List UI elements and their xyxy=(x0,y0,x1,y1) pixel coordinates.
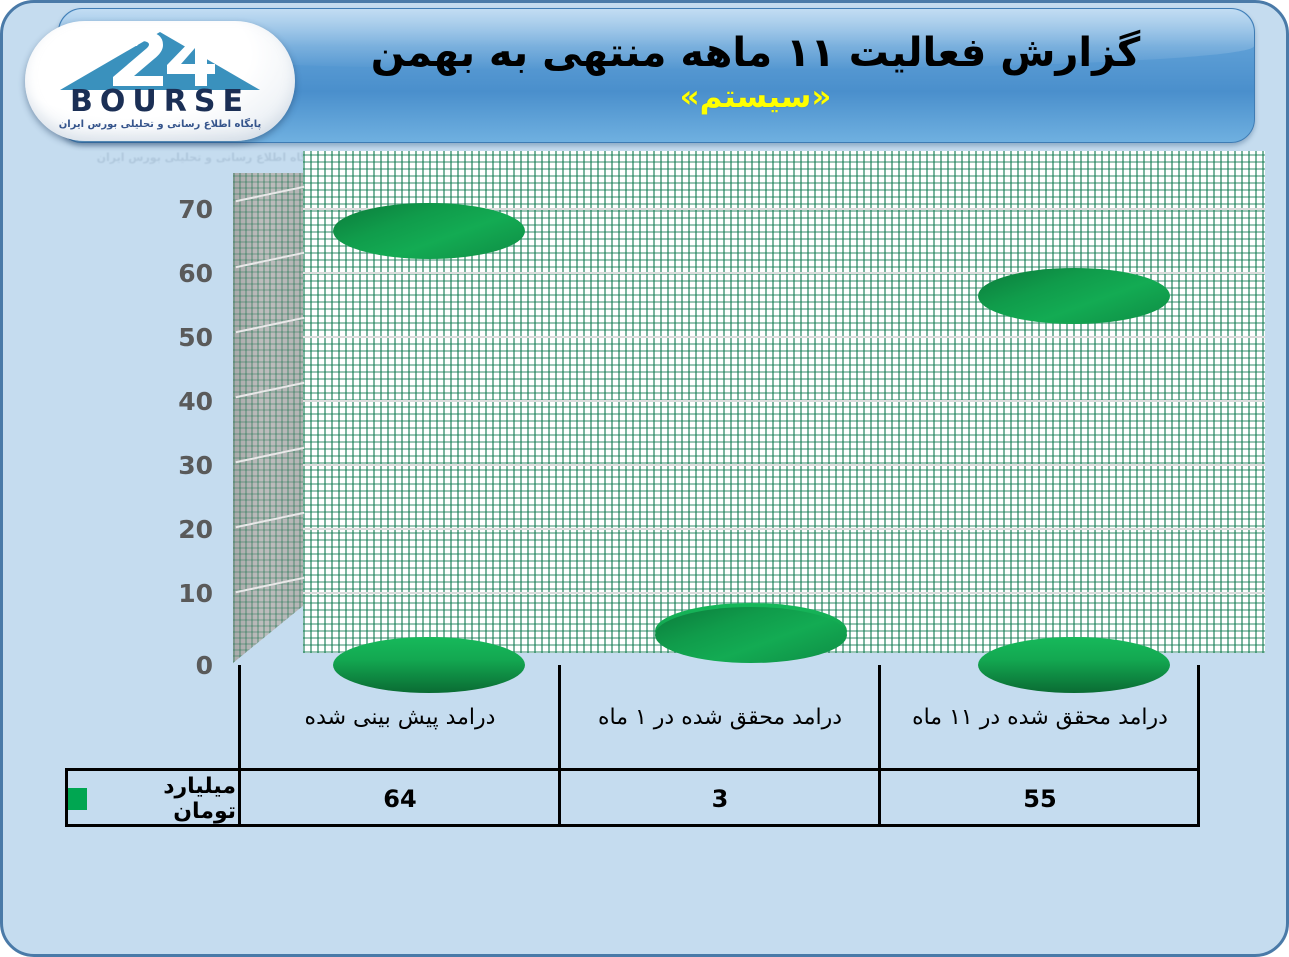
table-category-2: درامد محقق شده در ۱ ماه xyxy=(560,665,880,770)
table-rule-v1 xyxy=(558,665,561,827)
y-tick-50: 50 xyxy=(143,323,213,352)
y-tick-60: 60 xyxy=(143,259,213,288)
table-rule-vleft xyxy=(65,770,68,827)
y-tick-70: 70 xyxy=(143,195,213,224)
legend-label: میلیارد تومان xyxy=(95,774,236,824)
bar-3-body xyxy=(978,296,1170,665)
chart-data-table: درامد پیش بینی شده درامد محقق شده در ۱ م… xyxy=(65,665,1200,827)
table-category-1: درامد پیش بینی شده xyxy=(240,665,560,770)
table-rule-v3 xyxy=(1197,665,1200,827)
bar-cylinder-3 xyxy=(978,268,1170,665)
table-category-3: درامد محقق شده در ۱۱ ماه xyxy=(880,665,1200,770)
table-value-2: 3 xyxy=(560,770,880,827)
table-legend-cell: میلیارد تومان xyxy=(65,770,240,827)
table-rule-v2 xyxy=(878,665,881,827)
bar-1-body xyxy=(333,231,525,665)
y-tick-30: 30 xyxy=(143,451,213,480)
y-tick-10: 10 xyxy=(143,579,213,608)
bar-3-top-ellipse xyxy=(978,268,1170,324)
bar-2-top-ellipse xyxy=(655,607,847,663)
bar-cylinder-2 xyxy=(655,607,847,631)
y-tick-40: 40 xyxy=(143,387,213,416)
y-tick-20: 20 xyxy=(143,515,213,544)
table-rule-v0 xyxy=(238,665,241,827)
bar-cylinder-1 xyxy=(333,203,525,665)
table-value-1: 64 xyxy=(240,770,560,827)
table-rule-h-bottom xyxy=(65,824,1200,827)
legend-color-swatch xyxy=(65,788,87,810)
table-rule-h-mid xyxy=(65,768,1200,771)
slide-root: گزارش فعالیت ۱۱ ماهه منتهی به بهمن «سیست… xyxy=(0,0,1289,957)
bar-1-top-ellipse xyxy=(333,203,525,259)
table-value-3: 55 xyxy=(880,770,1200,827)
